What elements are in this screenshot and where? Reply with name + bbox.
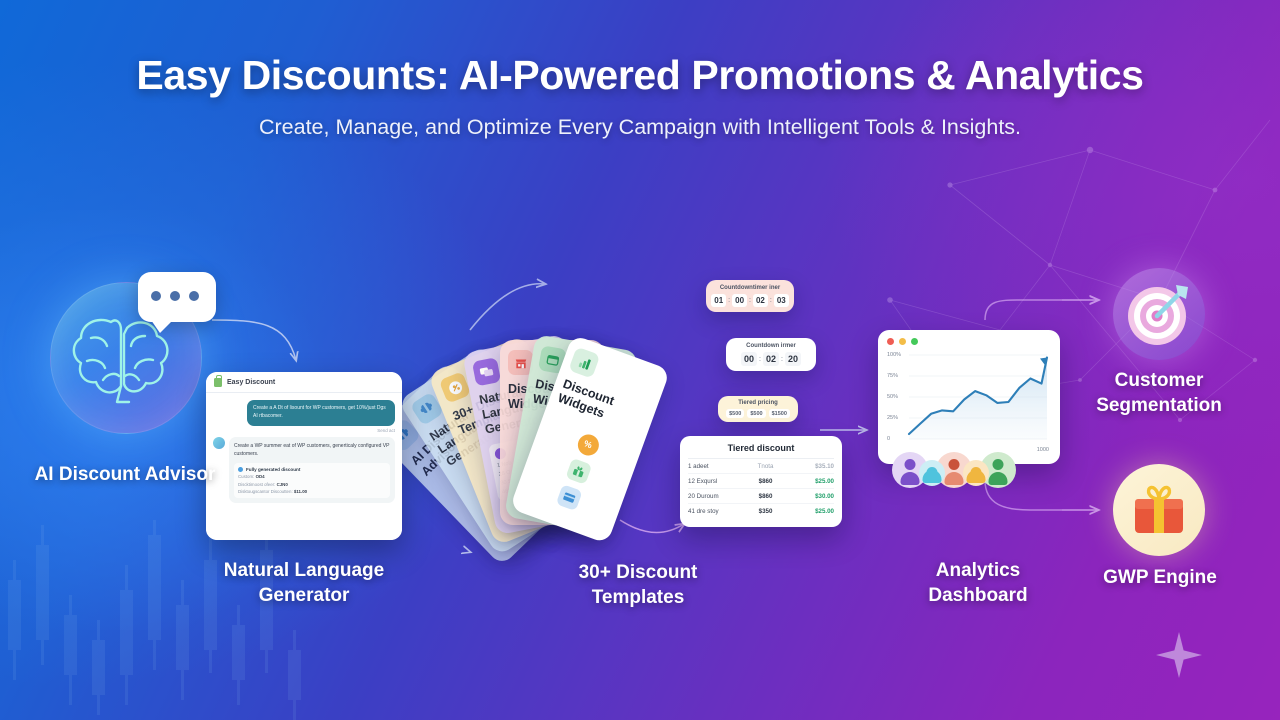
customer-segmentation-badge bbox=[1113, 268, 1205, 360]
row-amount: $30.00 bbox=[788, 493, 834, 500]
customer-avatars bbox=[892, 452, 1007, 488]
avatar bbox=[213, 437, 225, 449]
nlg-card-header: Easy Discount bbox=[206, 372, 402, 393]
table-row: 41 dre stoy$350$25.00 bbox=[688, 504, 834, 518]
row-amount: $35.10 bbox=[788, 463, 834, 470]
chat-bubble-icon bbox=[138, 272, 216, 322]
tiered-discount-rows: 1 adeetTnota$35.1012 Exqursl$860$25.0020… bbox=[688, 459, 834, 518]
ai-advisor-visual bbox=[50, 282, 202, 434]
countdown-digit: 01 bbox=[711, 294, 726, 307]
candlestick-decoration bbox=[0, 520, 330, 720]
digit-separator: : bbox=[781, 356, 783, 363]
y-axis-tick: 50% bbox=[887, 394, 898, 400]
tiered-discount-table: Tiered discount 1 adeetTnota$35.1012 Exq… bbox=[680, 436, 842, 527]
countdown-digit: 00 bbox=[732, 294, 747, 307]
card-tile-icon bbox=[555, 484, 582, 511]
avatar-head bbox=[905, 459, 916, 470]
row-qty: $350 bbox=[743, 508, 789, 515]
table-row: 20 Duroum$860$30.00 bbox=[688, 489, 834, 504]
avatar-body bbox=[967, 470, 986, 483]
y-axis-tick: 75% bbox=[887, 373, 898, 379]
target-icon bbox=[1126, 281, 1192, 347]
tiered-pricing-widget: Tiered pricing $500$500$1500 bbox=[718, 396, 798, 422]
row-amount: $25.00 bbox=[788, 478, 834, 485]
card-icon bbox=[472, 357, 501, 386]
generated-discount-line: Discktimoost ofeer: CJN0 bbox=[238, 482, 386, 487]
generated-discount-line: Custom: OD4 bbox=[238, 474, 386, 479]
countdown-2-digits: 00:02:20 bbox=[732, 352, 810, 366]
card-icon bbox=[568, 347, 600, 379]
table-row: 12 Exqursl$860$25.00 bbox=[688, 474, 834, 489]
chat-sent-status: Send act bbox=[213, 428, 395, 433]
x-axis-tick: 1000 bbox=[1037, 447, 1049, 453]
tier-price-value: $1500 bbox=[769, 409, 790, 418]
chart-svg bbox=[887, 351, 1051, 451]
avatar bbox=[919, 460, 945, 486]
analytics-chart: 025%50%75%100%1000 bbox=[887, 351, 1051, 451]
digit-separator: : bbox=[759, 356, 761, 363]
status-dot-icon bbox=[238, 467, 243, 472]
discount-templates-fan[interactable]: AI Discount AdvisorNatural Language Gene… bbox=[440, 300, 710, 550]
row-amount: $25.00 bbox=[788, 508, 834, 515]
generated-discount-title: Fully generated discount bbox=[238, 467, 386, 472]
nlg-chat-body: Create a A Dt of lisount for WP customer… bbox=[206, 393, 402, 540]
tier-price-value: $500 bbox=[726, 409, 744, 418]
avatar-body bbox=[945, 472, 964, 485]
sparkle-icon bbox=[1156, 632, 1202, 678]
row-label: 20 Duroum bbox=[688, 493, 743, 500]
row-qty: $860 bbox=[743, 493, 789, 500]
digit-separator: : bbox=[770, 297, 772, 304]
digit-separator: : bbox=[728, 297, 730, 304]
chat-dots bbox=[151, 291, 199, 301]
generated-discount-line: Disktougscantor Discoutten: $11.00 bbox=[238, 489, 386, 494]
percent-tile-icon: % bbox=[575, 431, 602, 458]
row-label: 1 adeet bbox=[688, 463, 743, 470]
y-axis-tick: 0 bbox=[887, 436, 890, 442]
gift-tile-icon bbox=[565, 457, 592, 484]
row-qty: Tnota bbox=[743, 463, 789, 470]
caption-analytics: Analytics Dashboard bbox=[890, 558, 1066, 608]
page-title: Easy Discounts: AI-Powered Promotions & … bbox=[0, 52, 1280, 99]
generated-discount-label: Fully generated discount bbox=[246, 467, 300, 472]
tiered-discount-title: Tiered discount bbox=[688, 443, 834, 459]
generated-discount-lines: Custom: OD4Discktimoost ofeer: CJN0Diskt… bbox=[238, 474, 386, 494]
countdown-digit: 02 bbox=[763, 352, 779, 366]
tiered-pricing-label: Tiered pricing bbox=[724, 400, 792, 406]
window-dot-2[interactable] bbox=[911, 338, 918, 345]
countdown-1-digits: 01:00:02:03 bbox=[712, 294, 788, 307]
row-label: 41 dre stoy bbox=[688, 508, 743, 515]
countdown-timer-widget-1: Countdowntimer iner 01:00:02:03 bbox=[706, 280, 794, 312]
window-controls[interactable] bbox=[887, 338, 1051, 345]
row-label: 12 Exqursl bbox=[688, 478, 743, 485]
header: Easy Discounts: AI-Powered Promotions & … bbox=[0, 52, 1280, 140]
avatar bbox=[963, 460, 989, 486]
gift-icon bbox=[1130, 481, 1188, 539]
countdown-digit: 20 bbox=[785, 352, 801, 366]
caption-nlg: Natural Language Generator bbox=[198, 558, 410, 608]
caption-ai-advisor: AI Discount Advisor bbox=[30, 462, 220, 487]
chat-bot-text: Create a WP summer eat of WP customers, … bbox=[234, 442, 390, 458]
chat-message-bot-row: Create a WP summer eat of WP customers, … bbox=[213, 437, 395, 504]
natural-language-generator-card: Easy Discount Create a A Dt of lisount f… bbox=[206, 372, 402, 540]
caption-gwp: GWP Engine bbox=[1074, 565, 1246, 590]
digit-separator: : bbox=[749, 297, 751, 304]
tiered-pricing-values: $500$500$1500 bbox=[724, 409, 792, 418]
countdown-1-label: Countdowntimer iner bbox=[712, 285, 788, 291]
countdown-digit: 00 bbox=[741, 352, 757, 366]
countdown-timer-widget-2: Countdown irmer 00:02:20 bbox=[726, 338, 816, 371]
avatar-body bbox=[989, 472, 1008, 485]
page-subtitle: Create, Manage, and Optimize Every Campa… bbox=[0, 115, 1280, 140]
caption-templates: 30+ Discount Templates bbox=[532, 560, 744, 610]
avatar-head bbox=[993, 459, 1004, 470]
tier-price-value: $500 bbox=[747, 409, 765, 418]
chat-message-bot: Create a WP summer eat of WP customers, … bbox=[229, 437, 395, 504]
row-qty: $860 bbox=[743, 478, 789, 485]
generated-discount-box: Fully generated discount Custom: OD4Disc… bbox=[234, 463, 390, 499]
avatar-body bbox=[901, 472, 920, 485]
nlg-app-title: Easy Discount bbox=[227, 379, 275, 386]
y-axis-tick: 25% bbox=[887, 415, 898, 421]
gwp-engine-badge bbox=[1113, 464, 1205, 556]
window-dot-0[interactable] bbox=[887, 338, 894, 345]
caption-segmentation: Customer Segmentation bbox=[1064, 368, 1254, 418]
chat-message-user: Create a A Dt of lisount for WP customer… bbox=[247, 400, 395, 426]
countdown-digit: 03 bbox=[774, 294, 789, 307]
table-row: 1 adeetTnota$35.10 bbox=[688, 459, 834, 474]
countdown-digit: 02 bbox=[753, 294, 768, 307]
avatar-head bbox=[949, 459, 960, 470]
avatar-body bbox=[923, 470, 942, 483]
y-axis-tick: 100% bbox=[887, 352, 901, 358]
countdown-2-label: Countdown irmer bbox=[732, 343, 810, 349]
lock-icon bbox=[214, 378, 222, 387]
window-dot-1[interactable] bbox=[899, 338, 906, 345]
analytics-dashboard-card: 025%50%75%100%1000 bbox=[878, 330, 1060, 464]
